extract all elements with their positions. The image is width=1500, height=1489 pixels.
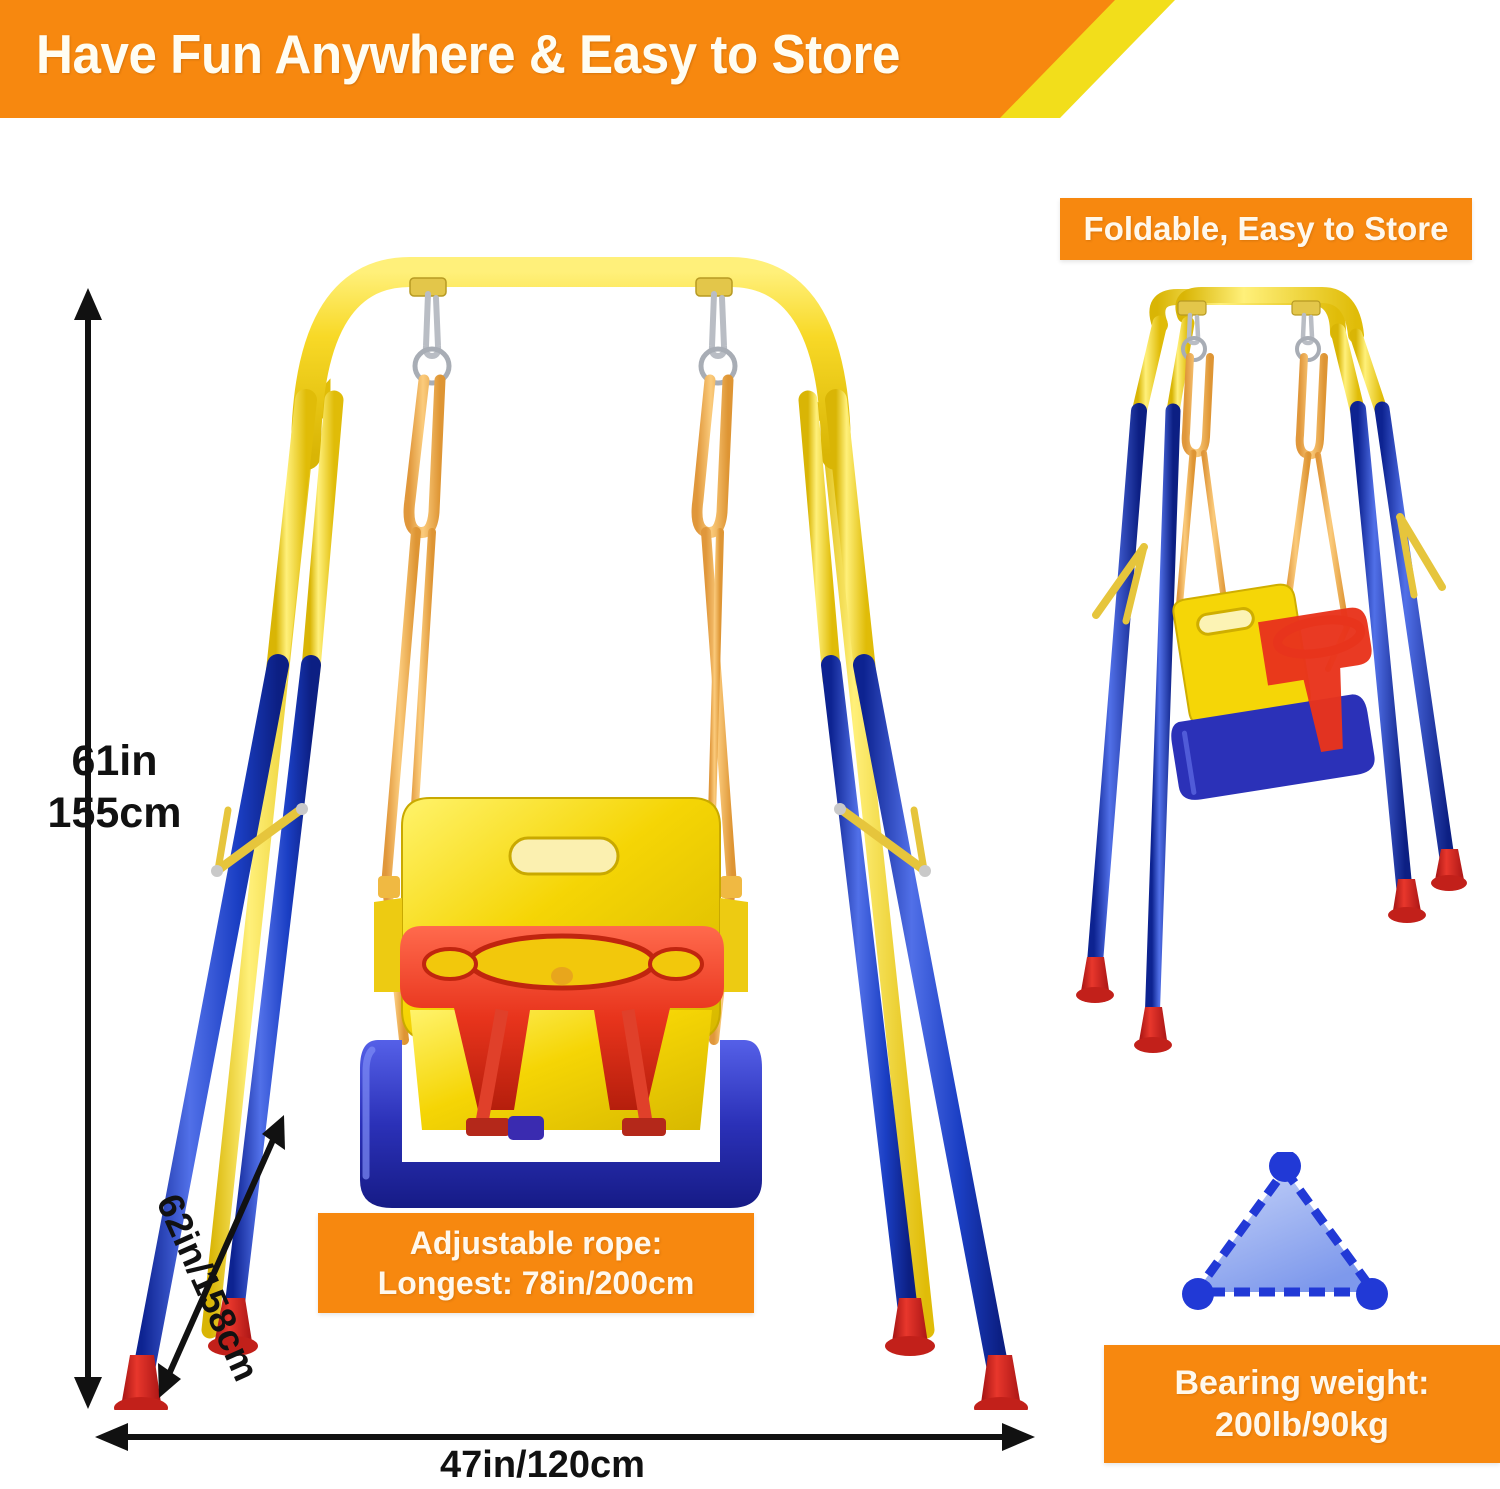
width-dimension-label: 47in/120cm [440, 1444, 645, 1487]
triangle-stability-icon [1178, 1152, 1393, 1312]
adjustable-rope-callout: Adjustable rope: Longest: 78in/200cm [318, 1213, 754, 1313]
rope-adjuster-left [378, 876, 400, 898]
folded-foot-caps [1076, 849, 1467, 1053]
triangle-vertex-top [1269, 1152, 1301, 1182]
rope-callout-line1: Adjustable rope: [410, 1223, 662, 1263]
header-banner: Have Fun Anywhere & Easy to Store [0, 0, 1175, 118]
triangle-vertex-right [1356, 1278, 1388, 1310]
infographic-canvas: Have Fun Anywhere & Easy to Store [0, 0, 1500, 1489]
height-dimension-cm: 155cm [22, 787, 207, 839]
folded-seat [1150, 572, 1391, 803]
top-frame-bar [306, 272, 836, 455]
swing-seat [360, 798, 762, 1208]
vertical-dimension-arrow [74, 288, 102, 1409]
carabiner-hardware [410, 278, 735, 383]
rope-callout-line2: Longest: 78in/200cm [378, 1263, 695, 1303]
foldable-label-text: Foldable, Easy to Store [1084, 208, 1449, 249]
folded-swing-product-image [1060, 285, 1480, 1065]
bearing-weight-callout: Bearing weight: 200lb/90kg [1104, 1345, 1500, 1463]
height-dimension-inches: 61in [22, 735, 207, 787]
weight-callout-line1: Bearing weight: [1174, 1362, 1429, 1405]
upper-yellow-legs [276, 400, 866, 680]
triangle-vertex-left [1182, 1278, 1214, 1310]
rope-adjuster-right [720, 876, 742, 898]
weight-callout-line2: 200lb/90kg [1215, 1404, 1389, 1447]
height-dimension-label: 61in 155cm [22, 735, 207, 840]
page-title: Have Fun Anywhere & Easy to Store [36, 22, 900, 86]
foldable-easy-to-store-label: Foldable, Easy to Store [1060, 198, 1472, 260]
